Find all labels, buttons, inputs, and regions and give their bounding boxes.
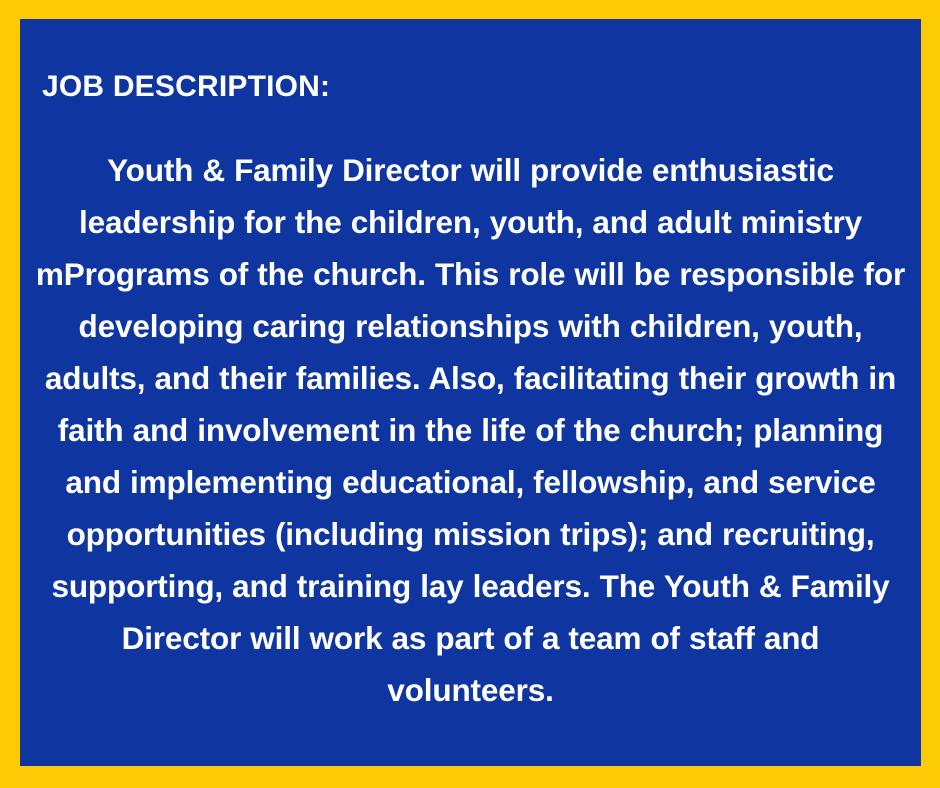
- poster-blue-panel: JOB DESCRIPTION: Youth & Family Director…: [20, 19, 921, 766]
- job-description-body: Youth & Family Director will provide ent…: [34, 144, 907, 716]
- page-title: JOB DESCRIPTION:: [42, 70, 330, 104]
- job-description-poster: JOB DESCRIPTION: Youth & Family Director…: [0, 0, 940, 788]
